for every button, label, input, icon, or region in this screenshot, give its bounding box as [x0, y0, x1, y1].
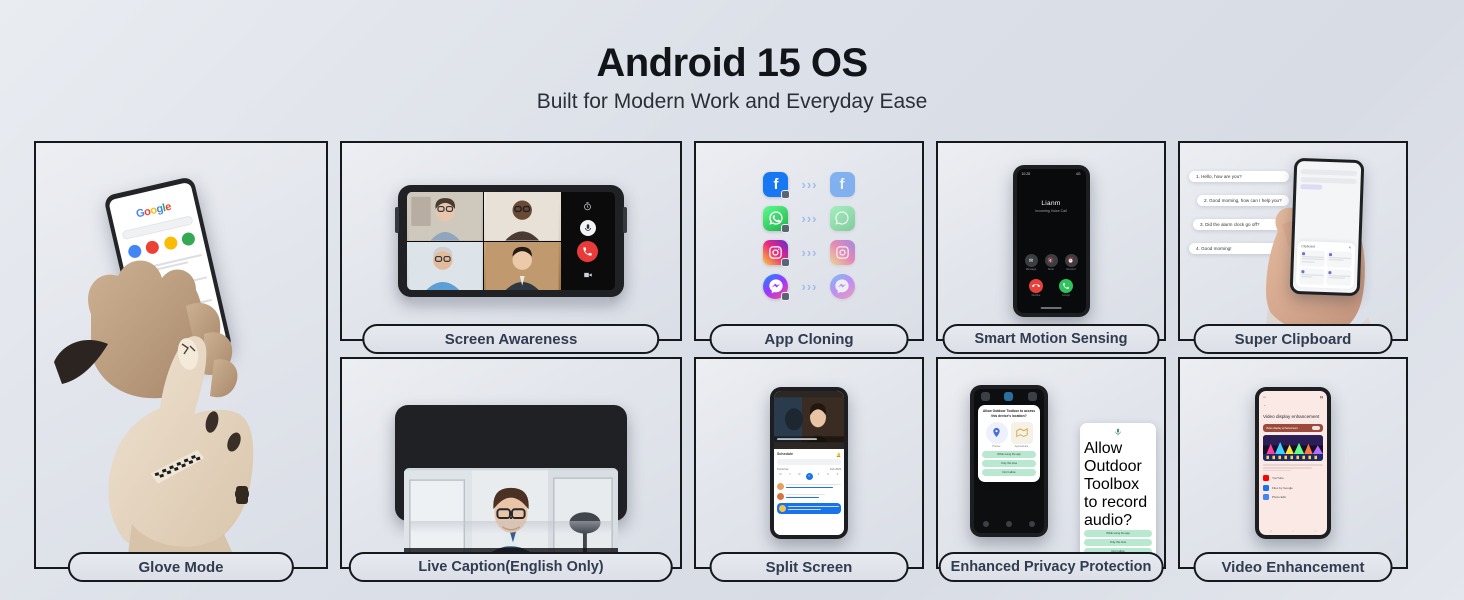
- shortcut-icon-yellow[interactable]: [163, 235, 179, 251]
- accept-call-button[interactable]: Accept: [1059, 279, 1073, 297]
- participant-tile[interactable]: [407, 242, 483, 291]
- decline-icon: [1029, 279, 1043, 293]
- video-enhancement-illustration: ▪▪▪▮▮ ← Video display enhancement Video …: [1180, 359, 1406, 567]
- phone-device: Allow Outdoor Toolbox to access this dev…: [970, 385, 1048, 537]
- super-clipboard-illustration: 1. Hello, how are you? 2. Good morning, …: [1180, 143, 1406, 339]
- clipboard-bubble: 2. Good morning, how can I help you?: [1197, 195, 1289, 206]
- preview-image: [1263, 435, 1323, 461]
- card-label-live-caption: Live Caption(English Only): [349, 552, 673, 582]
- phone-device-landscape: English only: [395, 405, 627, 521]
- description-text: [1263, 464, 1323, 471]
- message-list: [1296, 161, 1361, 191]
- clipboard-bubbles: 1. Hello, how are you? 2. Good morning, …: [1189, 171, 1289, 254]
- card-label-split-screen: Split Screen: [710, 552, 909, 582]
- answer-row: Decline Accept: [1029, 279, 1073, 297]
- phone-device: Clipboard ✎: [1290, 158, 1365, 296]
- clipboard-item[interactable]: [1300, 250, 1326, 267]
- shortcut-icon-green[interactable]: [181, 231, 197, 247]
- dock-icon[interactable]: [983, 521, 989, 527]
- supported-apps-list: YouTube Files by Google Photo Edit: [1263, 475, 1323, 500]
- app-name: Photo Edit: [1272, 495, 1286, 499]
- app-name: YouTube: [1272, 476, 1284, 480]
- week-strip: M T W T F S S: [777, 473, 841, 480]
- clone-row: f ››› f: [763, 172, 854, 197]
- feature-card-split-screen[interactable]: Schedule 🔔 Tomorrow Feb 2023 M T W T: [694, 357, 924, 569]
- message-row-highlight: [1300, 184, 1323, 190]
- call-option[interactable]: ⏰ Remind: [1065, 254, 1078, 271]
- clipboard-item[interactable]: [1299, 268, 1325, 285]
- app-icon[interactable]: [1004, 392, 1013, 401]
- whatsapp-clone-icon[interactable]: [830, 206, 855, 231]
- participant-tile[interactable]: [484, 242, 560, 291]
- item-text: [786, 494, 841, 500]
- phone-reflection: [409, 521, 613, 534]
- status-bar: 10:28 4G: [1017, 169, 1086, 176]
- instagram-clone-icon[interactable]: [830, 240, 855, 265]
- approximate-location-icon: [1011, 422, 1033, 444]
- files-icon: [1263, 485, 1269, 491]
- chevron-arrows-icon: ›››: [801, 280, 816, 293]
- schedule-item[interactable]: [777, 483, 841, 490]
- facebook-icon[interactable]: f: [763, 172, 788, 197]
- permission-dialog-location: Allow Outdoor Toolbox to access this dev…: [978, 405, 1040, 482]
- schedule-item-highlighted[interactable]: [777, 503, 841, 514]
- option-caption: Precise: [986, 445, 1008, 448]
- app-icon[interactable]: [981, 392, 990, 401]
- feature-card-enhanced-privacy-protection[interactable]: Allow Outdoor Toolbox to access this dev…: [936, 357, 1166, 569]
- schedule-app-pane[interactable]: Schedule 🔔 Tomorrow Feb 2023 M T W T: [774, 449, 844, 535]
- phone-device-landscape: [398, 185, 624, 297]
- caller-name: Lianm: [1035, 200, 1067, 207]
- photo-edit-icon: [1263, 494, 1269, 500]
- clone-row: ›››: [763, 240, 854, 265]
- card-label-app-cloning: App Cloning: [710, 324, 909, 354]
- top-app-icons: [974, 392, 1044, 401]
- status-network: 4G: [1076, 172, 1081, 176]
- call-option[interactable]: ✉ Message: [1025, 254, 1038, 271]
- navigation-bar: ◁ ○ □: [1259, 529, 1327, 533]
- clipboard-title: Clipboard: [1301, 244, 1315, 248]
- day-cell[interactable]: M: [777, 473, 784, 480]
- feature-card-super-clipboard[interactable]: 1. Hello, how are you? 2. Good morning, …: [1178, 141, 1408, 341]
- app-name: Files by Google: [1272, 486, 1293, 490]
- dock-icon[interactable]: [1029, 521, 1035, 527]
- card-label-screen-awareness: Screen Awareness: [362, 324, 659, 354]
- feature-card-live-caption[interactable]: English only Live Caption(English Only): [340, 357, 682, 569]
- feature-card-video-enhancement[interactable]: ▪▪▪▮▮ ← Video display enhancement Video …: [1178, 357, 1408, 569]
- glove-mode-illustration: Google: [36, 143, 326, 567]
- app-header: Schedule 🔔: [777, 452, 841, 457]
- avatar: [779, 505, 786, 512]
- home-indicator: [1041, 307, 1062, 309]
- avatar: [777, 483, 784, 490]
- accept-icon: [1059, 279, 1073, 293]
- clipboard-bubble: 4. Good morning!: [1189, 243, 1289, 254]
- clipboard-bubble: 3. Did the alarm clock go off?: [1193, 219, 1289, 230]
- chevron-arrows-icon: ›››: [801, 212, 816, 225]
- day-cell-selected[interactable]: T: [806, 473, 813, 480]
- message-row: [1301, 177, 1357, 184]
- video-call-screen: [407, 192, 615, 290]
- caller-info: Lianm Incoming Voice Call: [1035, 200, 1067, 213]
- phone-screen: Allow Outdoor Toolbox to access this dev…: [974, 389, 1044, 533]
- mute-icon: 🔇: [1045, 254, 1058, 267]
- smart-motion-illustration: 10:28 4G Lianm Incoming Voice Call ✉ Mes…: [938, 143, 1164, 339]
- feature-card-screen-awareness[interactable]: Screen Awareness: [340, 141, 682, 341]
- shortcut-icon-blue[interactable]: [127, 244, 143, 260]
- alarm-icon: ⏰: [1065, 254, 1078, 267]
- avatar: [777, 493, 784, 500]
- permission-button[interactable]: Only this time: [982, 460, 1036, 467]
- day-cell[interactable]: S: [834, 473, 841, 480]
- clone-row: ›››: [763, 274, 854, 299]
- clipboard-item[interactable]: [1327, 251, 1353, 268]
- app-cloning-illustration: f ››› f ›››: [696, 143, 922, 339]
- status-bar: ▪▪▪▮▮: [1263, 395, 1323, 399]
- chevron-arrows-icon: ›››: [801, 246, 816, 259]
- clipboard-item[interactable]: [1326, 269, 1352, 286]
- feature-card-smart-motion-sensing[interactable]: 10:28 4G Lianm Incoming Voice Call ✉ Mes…: [936, 141, 1166, 341]
- participant-grid: [407, 192, 561, 290]
- call-option[interactable]: 🔇 Mute: [1045, 254, 1058, 271]
- message-row: [1301, 169, 1357, 176]
- home-nav-icon[interactable]: ○: [1292, 529, 1294, 533]
- privacy-illustration: Allow Outdoor Toolbox to access this dev…: [938, 359, 1164, 567]
- page-subtitle: Built for Modern Work and Everyday Ease: [0, 90, 1464, 114]
- app-icon[interactable]: [1028, 392, 1037, 401]
- video-pane[interactable]: [774, 391, 844, 449]
- app-icon: [139, 307, 159, 327]
- permission-dialog-microphone: Allow Outdoor Toolbox to record audio? W…: [1080, 423, 1156, 562]
- item-text: [786, 484, 841, 490]
- precise-location-icon: [986, 422, 1008, 444]
- settings-title: Video display enhancement: [1263, 414, 1323, 420]
- list-item-text: [160, 298, 213, 318]
- app-list-item[interactable]: Photo Edit: [1263, 494, 1323, 500]
- item-text: [788, 506, 839, 512]
- end-call-button[interactable]: [577, 241, 598, 262]
- permission-button[interactable]: Don't allow: [982, 469, 1036, 476]
- dialog-title: Allow Outdoor Toolbox to access this dev…: [982, 409, 1036, 419]
- recents-nav-icon[interactable]: □: [1315, 529, 1317, 533]
- call-controls: [561, 192, 615, 290]
- clone-row: ›››: [763, 206, 854, 231]
- option-caption: Approximate: [1011, 445, 1033, 448]
- location-options: Precise Approximate: [982, 422, 1036, 448]
- card-label-enhanced-privacy-protection: Enhanced Privacy Protection: [939, 552, 1164, 582]
- camera-icon[interactable]: [580, 267, 596, 283]
- messenger-icon[interactable]: [763, 274, 788, 299]
- phone-device: ▪▪▪▮▮ ← Video display enhancement Video …: [1255, 387, 1331, 539]
- timer-icon[interactable]: [580, 199, 596, 215]
- toggle-switch[interactable]: [1312, 426, 1320, 430]
- phone-screen: Google: [108, 182, 228, 365]
- app-icon: [128, 262, 148, 282]
- list-item-text: [155, 276, 208, 296]
- phone-screen: Schedule 🔔 Tomorrow Feb 2023 M T W T: [774, 391, 844, 535]
- permission-button[interactable]: While using the app: [1084, 530, 1152, 537]
- whatsapp-icon[interactable]: [763, 206, 788, 231]
- notification-icon[interactable]: 🔔: [836, 452, 841, 457]
- date-label: Feb 2023: [830, 468, 841, 471]
- month-label: Tomorrow: [777, 468, 788, 471]
- phone-device: Google: [103, 176, 233, 370]
- mute-icon[interactable]: [580, 220, 596, 236]
- status-time: 10:28: [1022, 172, 1031, 176]
- clone-badge: [781, 224, 790, 233]
- day-cell[interactable]: S: [825, 473, 832, 480]
- feature-card-glove-mode[interactable]: Google: [34, 141, 328, 569]
- clipboard-bubble: 1. Hello, how are you?: [1189, 171, 1289, 182]
- screen-awareness-illustration: [342, 143, 680, 339]
- feature-card-app-cloning[interactable]: f ››› f ›››: [694, 141, 924, 341]
- call-option-row: ✉ Message 🔇 Mute ⏰ Remind: [1025, 254, 1078, 271]
- phone-device: 10:28 4G Lianm Incoming Voice Call ✉ Mes…: [1013, 165, 1090, 317]
- card-label-video-enhancement: Video Enhancement: [1194, 552, 1393, 582]
- schedule-item[interactable]: [777, 493, 841, 500]
- app-list-item[interactable]: YouTube: [1263, 475, 1323, 481]
- youtube-icon: [1263, 475, 1269, 481]
- enhancement-toggle-row[interactable]: Video display enhancement: [1263, 424, 1323, 432]
- location-option-precise[interactable]: Precise: [986, 422, 1008, 448]
- dialog-title: Allow Outdoor Toolbox to record audio?: [1084, 440, 1152, 530]
- participant-tile[interactable]: [484, 192, 560, 241]
- phone-screen: Clipboard ✎: [1293, 161, 1361, 293]
- chevron-arrows-icon: ›››: [801, 178, 816, 191]
- card-label-smart-motion-sensing: Smart Motion Sensing: [943, 324, 1160, 354]
- messenger-clone-icon[interactable]: [830, 274, 855, 299]
- facebook-clone-icon[interactable]: f: [830, 172, 855, 197]
- clone-badge: [781, 258, 790, 267]
- phone-reflection: [412, 297, 611, 310]
- shortcut-icon-red[interactable]: [145, 240, 161, 256]
- dock-icons: [974, 521, 1044, 527]
- call-status: Incoming Voice Call: [1035, 209, 1067, 213]
- app-list-item[interactable]: Files by Google: [1263, 485, 1323, 491]
- banner-label: Video display enhancement: [1266, 427, 1298, 430]
- split-screen-illustration: Schedule 🔔 Tomorrow Feb 2023 M T W T: [696, 359, 922, 567]
- clone-badge: [781, 190, 790, 199]
- live-caption-illustration: English only: [342, 359, 680, 567]
- message-icon: ✉: [1025, 254, 1038, 267]
- location-option-approximate[interactable]: Approximate: [1011, 422, 1033, 448]
- permission-button[interactable]: Only this time: [1084, 539, 1152, 546]
- clone-badge: [781, 292, 790, 301]
- permission-button[interactable]: While using the app: [982, 451, 1036, 458]
- clipboard-panel: Clipboard ✎: [1296, 241, 1356, 289]
- back-icon[interactable]: ←: [1263, 402, 1323, 407]
- app-icon: [134, 284, 154, 304]
- incoming-call-screen: 10:28 4G Lianm Incoming Voice Call ✉ Mes…: [1017, 169, 1086, 313]
- page-title: Android 15 OS: [0, 42, 1464, 84]
- phone-device: Schedule 🔔 Tomorrow Feb 2023 M T W T: [770, 387, 848, 539]
- back-nav-icon[interactable]: ◁: [1269, 529, 1271, 533]
- card-label-super-clipboard: Super Clipboard: [1194, 324, 1393, 354]
- dock-icon[interactable]: [1006, 521, 1012, 527]
- clipboard-items: [1299, 250, 1352, 286]
- instagram-icon[interactable]: [763, 240, 788, 265]
- clipboard-edit-icon[interactable]: ✎: [1349, 246, 1352, 250]
- day-cell[interactable]: W: [796, 473, 803, 480]
- card-label-glove-mode: Glove Mode: [68, 552, 294, 582]
- phone-screen: ▪▪▪▮▮ ← Video display enhancement Video …: [1259, 391, 1327, 535]
- microphone-icon: [1084, 428, 1152, 438]
- app-title: Schedule: [777, 452, 793, 456]
- decline-call-button[interactable]: Decline: [1029, 279, 1043, 297]
- day-cell[interactable]: T: [787, 473, 794, 480]
- day-cell[interactable]: F: [815, 473, 822, 480]
- feature-grid: Google: [34, 141, 1430, 569]
- list-item-text: [150, 253, 203, 273]
- page-header: Android 15 OS Built for Modern Work and …: [0, 0, 1464, 114]
- search-input[interactable]: [777, 459, 841, 465]
- participant-tile[interactable]: [407, 192, 483, 241]
